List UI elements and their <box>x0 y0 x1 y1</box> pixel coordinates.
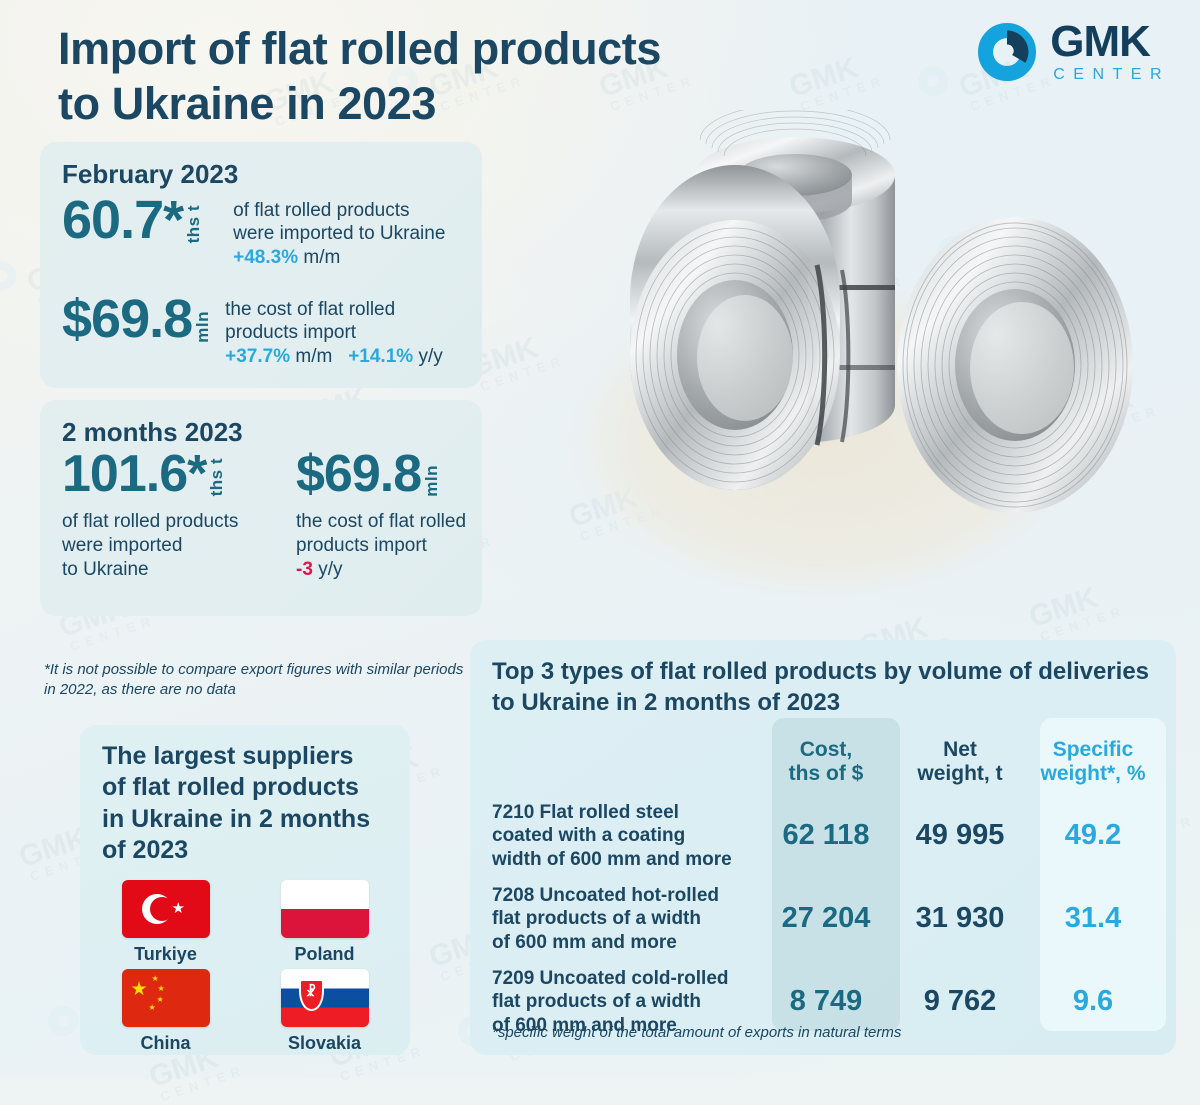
supplier-item-poland: Poland <box>245 880 404 965</box>
row-1-name-line1: 7210 Flat rolled steel <box>492 801 762 825</box>
header-cost-line1: Cost, <box>762 738 890 763</box>
page-title-line1: Import of flat rolled products <box>58 22 818 77</box>
row-2-net-weight: 31 930 <box>890 902 1030 935</box>
row-2-product-name: 7208 Uncoated hot-rolled flat products o… <box>470 884 762 955</box>
row-1-net-weight: 49 995 <box>890 819 1030 852</box>
suppliers-title-line3: in Ukraine in 2 months <box>102 804 410 835</box>
largest-suppliers-panel: The largest suppliers of flat rolled pro… <box>80 725 410 1055</box>
row-3-name-line2: flat products of a width <box>492 990 762 1014</box>
header-cell-specific-weight: Specific weight*, % <box>1030 738 1156 788</box>
row-2-name-line3: of 600 mm and more <box>492 931 762 955</box>
two-months-volume-unit: ths t <box>208 458 225 496</box>
suppliers-title: The largest suppliers of flat rolled pro… <box>102 741 410 866</box>
supplier-label-poland: Poland <box>245 944 404 965</box>
suppliers-title-line2: of flat rolled products <box>102 772 410 803</box>
february-cost-change1-label: m/m <box>295 346 332 367</box>
two-months-cost-value-group: $69.8 mln <box>296 450 482 499</box>
february-cost-value-group: $69.8 mln <box>62 294 211 345</box>
february-volume-value: 60.7* <box>62 195 183 246</box>
table-row: 7208 Uncoated hot-rolled flat products o… <box>470 877 1176 960</box>
left-footnote: *It is not possible to compare export fi… <box>44 660 464 701</box>
two-months-volume-desc-line1: of flat rolled products <box>62 510 248 534</box>
two-months-volume-description: of flat rolled products were imported to… <box>62 510 248 581</box>
two-months-cost-change-value: -3 <box>296 559 313 580</box>
two-months-volume-stat: 101.6* ths t of flat rolled products wer… <box>62 450 248 582</box>
two-months-cost-description: the cost of flat rolled products import … <box>296 510 482 581</box>
row-3-specific-weight: 9.6 <box>1030 985 1156 1018</box>
supplier-label-turkiye: Turkiye <box>86 944 245 965</box>
february-card-title: February 2023 <box>62 159 482 190</box>
supplier-label-slovakia: Slovakia <box>245 1033 404 1054</box>
row-1-name-line3: width of 600 mm and more <box>492 848 762 872</box>
supplier-item-slovakia: ☧ Slovakia <box>245 969 404 1054</box>
two-months-2023-card: 2 months 2023 101.6* ths t of flat rolle… <box>40 400 482 616</box>
february-volume-change-value: +48.3% <box>233 247 298 268</box>
supplier-flags-grid: ★ Turkiye Poland ★ ★ ★ ★ ★ China ☧ <box>80 880 410 1054</box>
february-cost-value: $69.8 <box>62 294 192 345</box>
supplier-item-turkiye: ★ Turkiye <box>86 880 245 965</box>
two-months-cost-change-label: y/y <box>318 559 342 580</box>
february-volume-change-label: m/m <box>303 247 340 268</box>
header-net-line1: Net <box>890 738 1030 763</box>
turkiye-flag-icon: ★ <box>122 880 210 938</box>
logo-gmk-text: GMK <box>1050 20 1170 64</box>
table-header-row: Cost, ths of $ Net weight, t Specific we… <box>470 730 1176 794</box>
star-shape: ★ <box>149 1004 156 1012</box>
star-shape: ★ <box>131 980 148 999</box>
logo-center-text: CENTER <box>1050 67 1170 83</box>
february-volume-description: of flat rolled products were imported to… <box>233 199 445 269</box>
row-2-name-line1: 7208 Uncoated hot-rolled <box>492 884 762 908</box>
logo-wordmark: GMK CENTER <box>1050 20 1170 83</box>
february-volume-change: +48.3% m/m <box>233 246 445 269</box>
table-footnote: *specific weight of the total amount of … <box>492 1024 901 1041</box>
february-volume-unit: ths t <box>185 205 202 243</box>
table-row: 7210 Flat rolled steel coated with a coa… <box>470 794 1176 877</box>
row-3-cost: 8 749 <box>762 985 890 1018</box>
crescent-shape <box>142 894 172 924</box>
coil-left <box>630 165 848 490</box>
steel-coils-illustration <box>470 110 1170 630</box>
two-months-cost-desc-line2: products import <box>296 534 482 558</box>
double-cross-shape: ☧ <box>306 985 316 998</box>
two-months-volume-value: 101.6* <box>62 450 206 499</box>
two-months-cost-desc-line1: the cost of flat rolled <box>296 510 482 534</box>
february-cost-description: the cost of flat rolled products import … <box>225 298 443 368</box>
february-cost-changes: +37.7% m/m +14.1% y/y <box>225 345 443 368</box>
table-title-line2: to Ukraine in 2 months of 2023 <box>492 688 1176 719</box>
supplier-label-china: China <box>86 1033 245 1054</box>
two-months-cost-stat: $69.8 mln the cost of flat rolled produc… <box>296 450 482 582</box>
slovakia-flag-icon: ☧ <box>281 969 369 1027</box>
top-products-table-panel: Top 3 types of flat rolled products by v… <box>470 640 1176 1055</box>
header-cell-cost: Cost, ths of $ <box>762 738 890 788</box>
coil-right <box>897 217 1133 513</box>
china-flag-icon: ★ ★ ★ ★ ★ <box>122 969 210 1027</box>
star-shape: ★ <box>157 996 164 1004</box>
row-2-cost: 27 204 <box>762 902 890 935</box>
february-cost-stat: $69.8 mln the cost of flat rolled produc… <box>62 294 482 368</box>
star-shape: ★ <box>172 901 185 916</box>
two-months-volume-desc-line2: were imported <box>62 534 248 558</box>
february-cost-unit: mln <box>194 311 211 343</box>
row-1-name-line2: coated with a coating <box>492 824 762 848</box>
february-cost-change1-value: +37.7% <box>225 346 290 367</box>
suppliers-title-line1: The largest suppliers <box>102 741 410 772</box>
february-volume-stat: 60.7* ths t of flat rolled products were… <box>62 195 482 269</box>
row-1-product-name: 7210 Flat rolled steel coated with a coa… <box>470 801 762 872</box>
products-table: Cost, ths of $ Net weight, t Specific we… <box>470 730 1176 1043</box>
february-volume-desc-line2: were imported to Ukraine <box>233 222 445 245</box>
header-cost-line2: ths of $ <box>762 762 890 787</box>
row-3-net-weight: 9 762 <box>890 985 1030 1018</box>
star-shape: ★ <box>152 975 159 983</box>
gmk-donut-icon <box>978 23 1036 81</box>
header-net-line2: weight, t <box>890 762 1030 787</box>
february-cost-desc-line1: the cost of flat rolled <box>225 298 443 321</box>
supplier-item-china: ★ ★ ★ ★ ★ China <box>86 969 245 1054</box>
two-months-volume-desc-line3: to Ukraine <box>62 558 248 582</box>
february-cost-desc-line2: products import <box>225 321 443 344</box>
gmk-center-logo: GMK CENTER <box>978 20 1170 83</box>
row-1-specific-weight: 49.2 <box>1030 819 1156 852</box>
row-1-cost: 62 118 <box>762 819 890 852</box>
header-spec-line1: Specific <box>1030 738 1156 763</box>
star-shape: ★ <box>158 985 165 993</box>
february-volume-desc-line1: of flat rolled products <box>233 199 445 222</box>
two-months-cost-change: -3 y/y <box>296 558 482 582</box>
poland-flag-icon <box>281 880 369 938</box>
february-cost-change2-label: y/y <box>418 346 442 367</box>
february-cost-change2-value: +14.1% <box>348 346 413 367</box>
two-months-stats: 101.6* ths t of flat rolled products wer… <box>62 450 482 582</box>
shield-shape: ☧ <box>299 979 324 1011</box>
header-cell-net-weight: Net weight, t <box>890 738 1030 788</box>
two-months-cost-value: $69.8 <box>296 450 421 499</box>
two-months-card-title: 2 months 2023 <box>62 417 482 448</box>
two-months-cost-unit: mln <box>423 465 440 497</box>
february-2023-card: February 2023 60.7* ths t of flat rolled… <box>40 142 482 388</box>
two-months-volume-value-group: 101.6* ths t <box>62 450 248 499</box>
february-volume-value-group: 60.7* ths t <box>62 195 219 246</box>
row-2-name-line2: flat products of a width <box>492 907 762 931</box>
row-2-specific-weight: 31.4 <box>1030 902 1156 935</box>
row-3-name-line1: 7209 Uncoated cold-rolled <box>492 967 762 991</box>
suppliers-title-line4: of 2023 <box>102 835 410 866</box>
header-spec-line2: weight*, % <box>1030 762 1156 787</box>
table-title-line1: Top 3 types of flat rolled products by v… <box>492 657 1176 688</box>
table-title: Top 3 types of flat rolled products by v… <box>492 657 1176 718</box>
